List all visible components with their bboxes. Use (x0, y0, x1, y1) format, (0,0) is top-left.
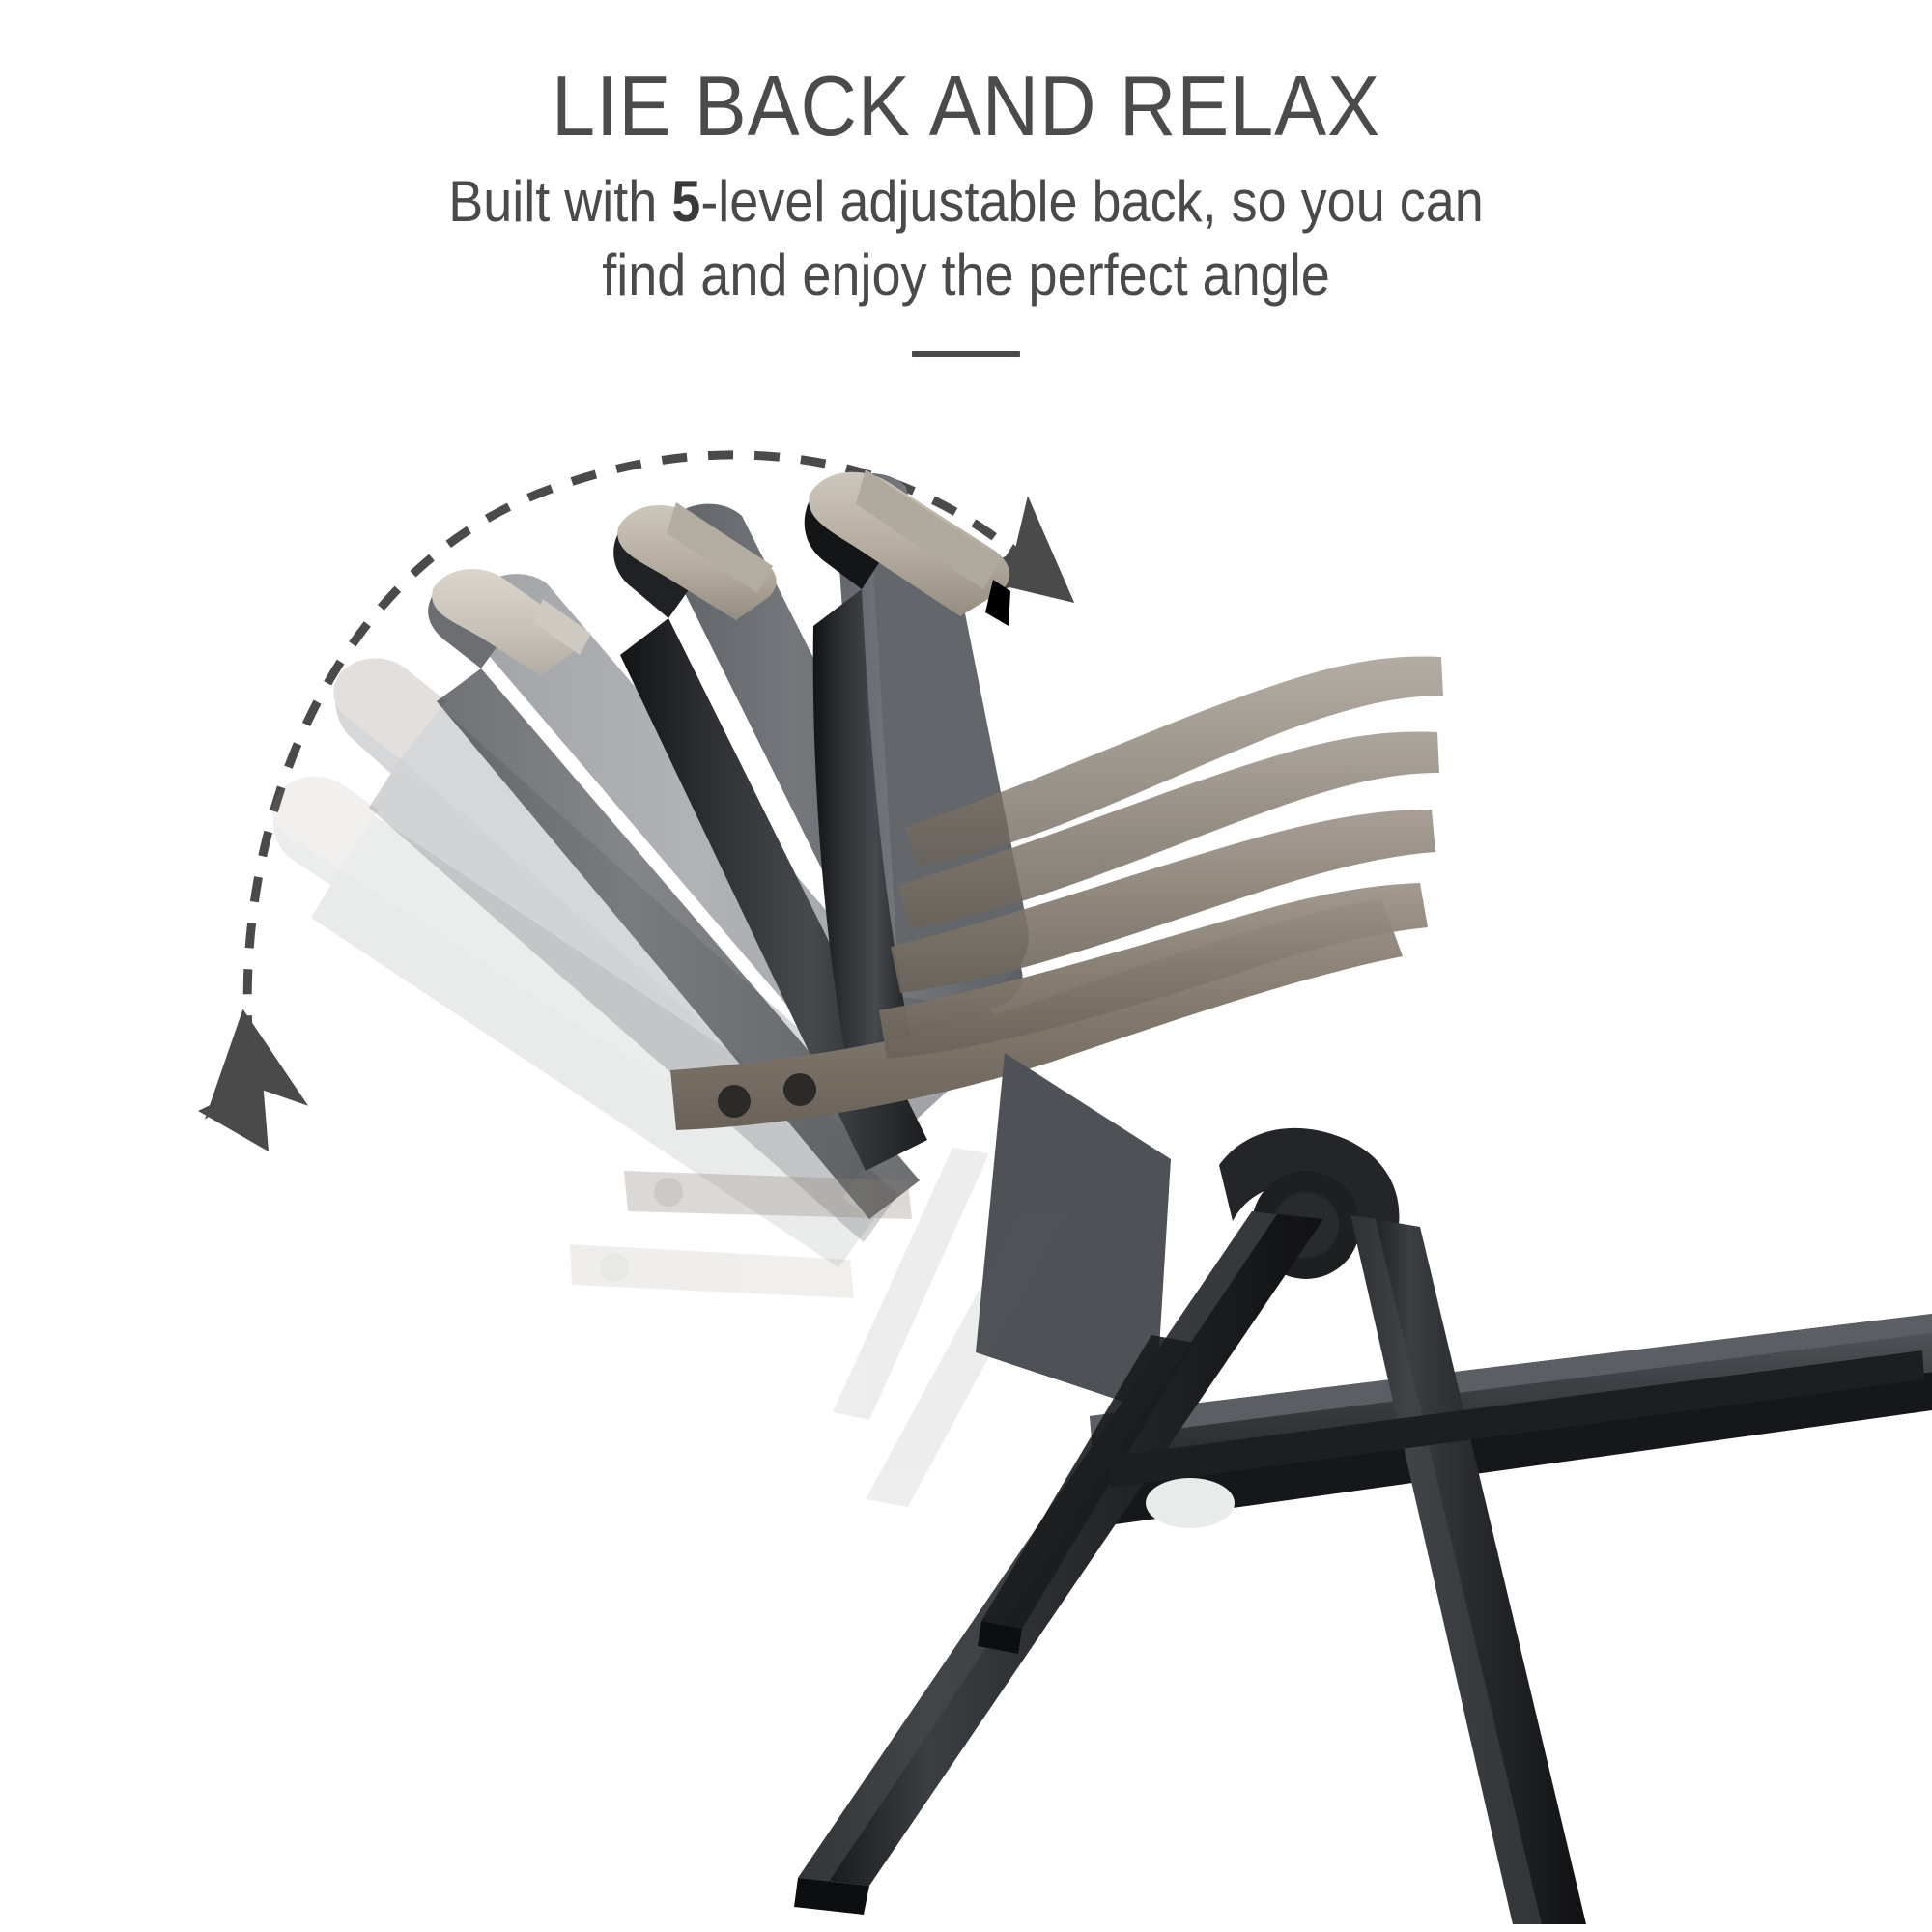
arc-arrowhead-left-icon (198, 1080, 269, 1151)
armrest-bolt-1-icon (718, 1085, 751, 1118)
chair-legs (794, 1211, 1924, 1924)
armrest-bolt-2-icon (783, 1073, 816, 1106)
page-title: LIE BACK AND RELAX (77, 0, 1855, 152)
subtitle-line-2: find and enjoy the perfect angle (602, 242, 1330, 307)
divider-wrap (0, 351, 1932, 357)
armrest-ghost-1 (570, 1244, 854, 1298)
header-block: LIE BACK AND RELAX Built with 5-level ad… (0, 0, 1932, 357)
page-subtitle: Built with 5-level adjustable back, so y… (97, 152, 1835, 312)
front-leg-highlight (1350, 1215, 1542, 1924)
subtitle-suffix: -level adjustable back, so you can (700, 169, 1483, 234)
subtitle-line-1: Built with 5-level adjustable back, so y… (448, 169, 1484, 234)
subtitle-prefix: Built with (448, 169, 671, 234)
subtitle-highlight-number: 5 (671, 169, 700, 234)
title-divider (912, 351, 1020, 357)
hinge-foot-pad (1146, 1478, 1235, 1528)
